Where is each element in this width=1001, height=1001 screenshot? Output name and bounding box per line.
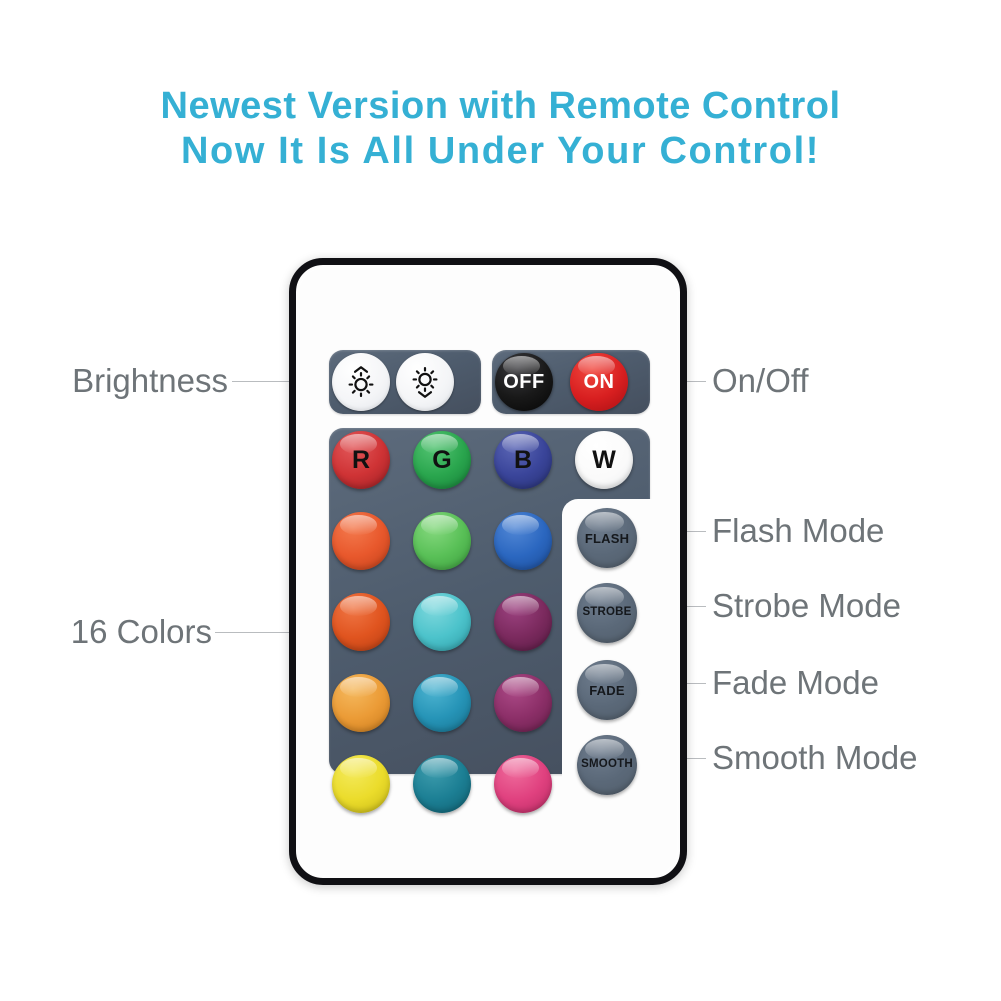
color-button-g-label: G — [432, 448, 451, 473]
color-swatch-r3c1[interactable] — [332, 674, 390, 732]
color-swatch-r4c2[interactable] — [413, 755, 471, 813]
color-swatch-r1c3[interactable] — [494, 512, 552, 570]
color-swatch-r4c1[interactable] — [332, 755, 390, 813]
color-button-r[interactable]: R — [332, 431, 390, 489]
color-button-r-label: R — [352, 448, 370, 473]
sun-up-icon — [344, 365, 378, 399]
callout-16-colors: 16 Colors — [0, 615, 212, 648]
sun-down-icon — [408, 365, 442, 399]
strobe-mode-label: STROBE — [582, 607, 631, 619]
color-swatch-r3c3[interactable] — [494, 674, 552, 732]
callout-fade-mode: Fade Mode — [712, 666, 879, 699]
callout-flash-mode: Flash Mode — [712, 514, 884, 547]
smooth-mode-button[interactable]: SMOOTH — [577, 735, 637, 795]
color-swatch-r4c3[interactable] — [494, 755, 552, 813]
headline-line-1: Newest Version with Remote Control — [0, 84, 1001, 129]
color-swatch-r1c1[interactable] — [332, 512, 390, 570]
off-button[interactable]: OFF — [495, 353, 553, 411]
color-swatch-r2c1[interactable] — [332, 593, 390, 651]
color-swatch-r2c2[interactable] — [413, 593, 471, 651]
color-button-b-label: B — [514, 448, 532, 473]
headline: Newest Version with Remote Control Now I… — [0, 84, 1001, 174]
callout-brightness: Brightness — [0, 364, 228, 397]
strobe-mode-button[interactable]: STROBE — [577, 583, 637, 643]
color-swatch-r2c3[interactable] — [494, 593, 552, 651]
callout-smooth-mode: Smooth Mode — [712, 741, 917, 774]
color-button-w-label: W — [592, 448, 616, 473]
flash-mode-label: FLASH — [585, 532, 629, 545]
color-button-b[interactable]: B — [494, 431, 552, 489]
color-button-w[interactable]: W — [575, 431, 633, 489]
brightness-down-button[interactable] — [396, 353, 454, 411]
smooth-mode-label: SMOOTH — [581, 759, 633, 771]
remote-control-body: OFF ON R G B W FLASH STROBE FADE SMOOTH — [289, 258, 687, 885]
headline-line-2: Now It Is All Under Your Control! — [0, 129, 1001, 174]
color-swatch-r1c2[interactable] — [413, 512, 471, 570]
brightness-up-button[interactable] — [332, 353, 390, 411]
on-button[interactable]: ON — [570, 353, 628, 411]
fade-mode-label: FADE — [589, 684, 624, 697]
on-button-label: ON — [584, 372, 615, 392]
color-button-g[interactable]: G — [413, 431, 471, 489]
color-swatch-r3c2[interactable] — [413, 674, 471, 732]
fade-mode-button[interactable]: FADE — [577, 660, 637, 720]
callout-strobe-mode: Strobe Mode — [712, 589, 901, 622]
flash-mode-button[interactable]: FLASH — [577, 508, 637, 568]
callout-on-off: On/Off — [712, 364, 809, 397]
off-button-label: OFF — [503, 372, 545, 392]
